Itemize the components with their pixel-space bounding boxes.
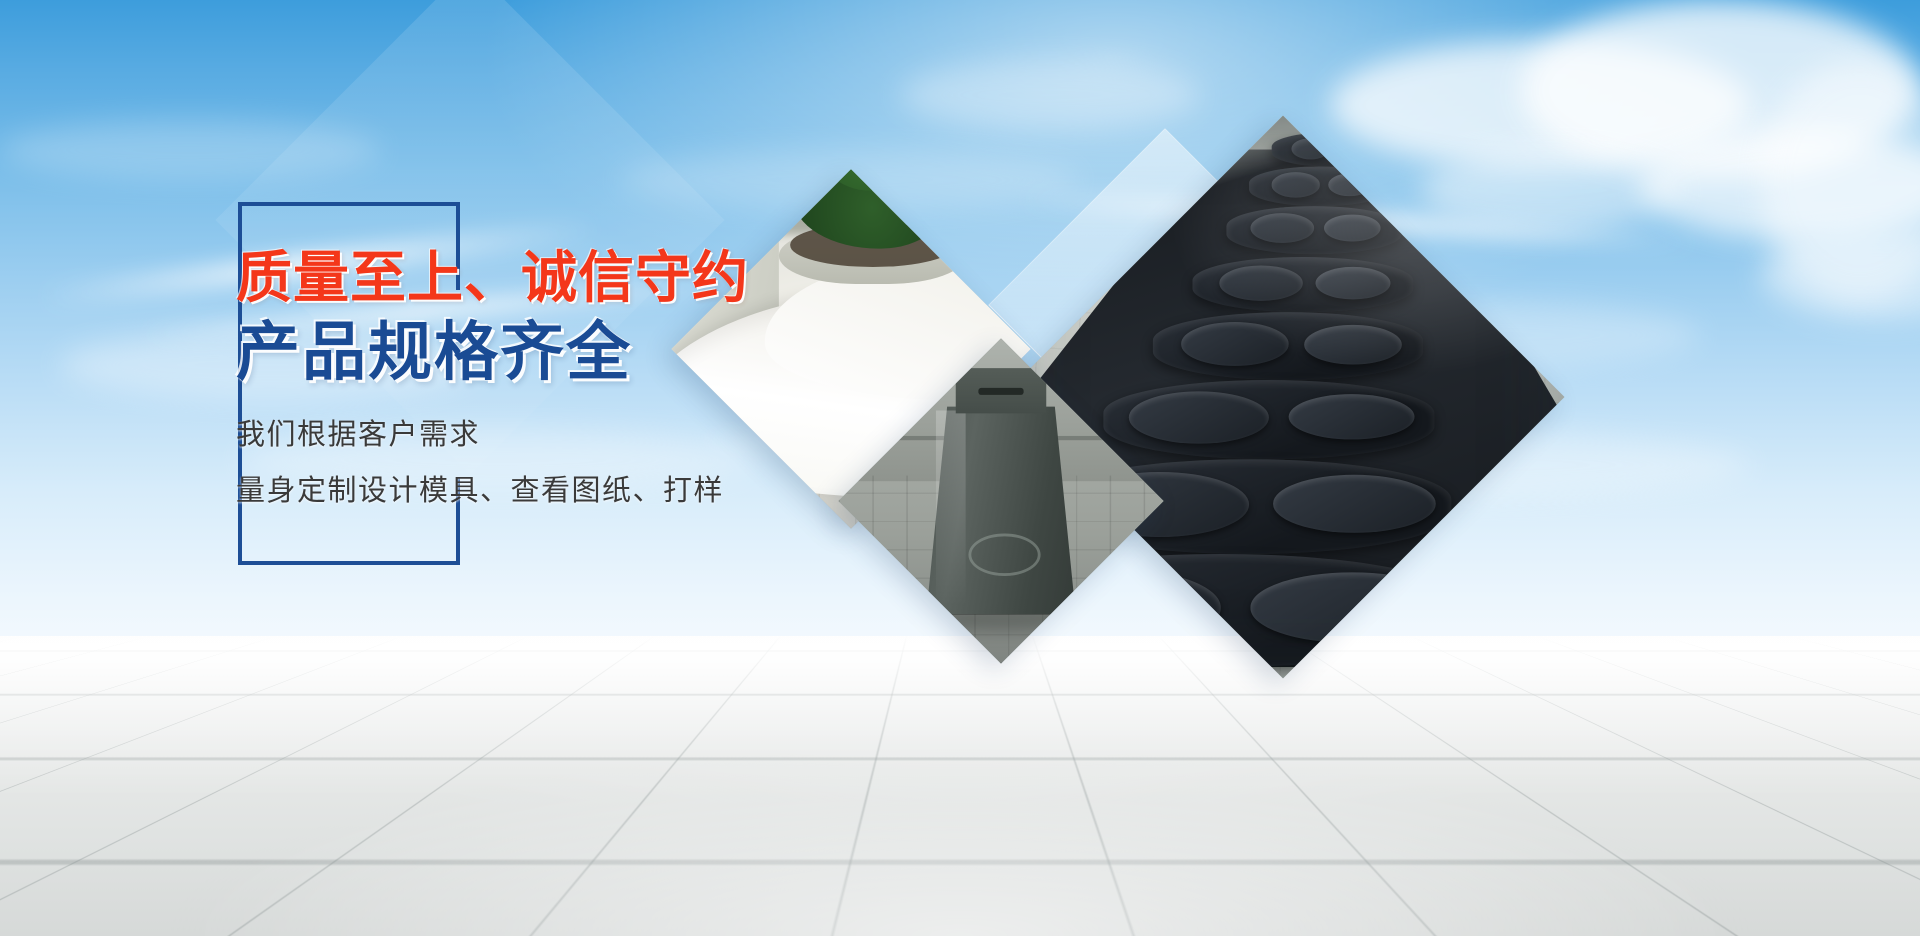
paved-ground bbox=[0, 636, 1920, 936]
headline-block: 质量至上、诚信守约 产品规格齐全 bbox=[236, 250, 876, 386]
pavement-highlight bbox=[0, 636, 1920, 936]
frame-top-segment bbox=[238, 202, 460, 206]
promo-banner: 质量至上、诚信守约 产品规格齐全 我们根据客户需求 量身定制设计模具、查看图纸、… bbox=[0, 0, 1920, 936]
cloud bbox=[900, 60, 1200, 130]
subtitle-block: 我们根据客户需求 量身定制设计模具、查看图纸、打样 bbox=[236, 420, 936, 505]
headline-secondary: 产品规格齐全 bbox=[236, 321, 876, 386]
subtitle-line-2: 量身定制设计模具、查看图纸、打样 bbox=[236, 476, 936, 505]
headline-primary: 质量至上、诚信守约 bbox=[236, 250, 876, 307]
subtitle-line-1: 我们根据客户需求 bbox=[236, 420, 936, 449]
frame-bottom-segment bbox=[238, 561, 460, 565]
